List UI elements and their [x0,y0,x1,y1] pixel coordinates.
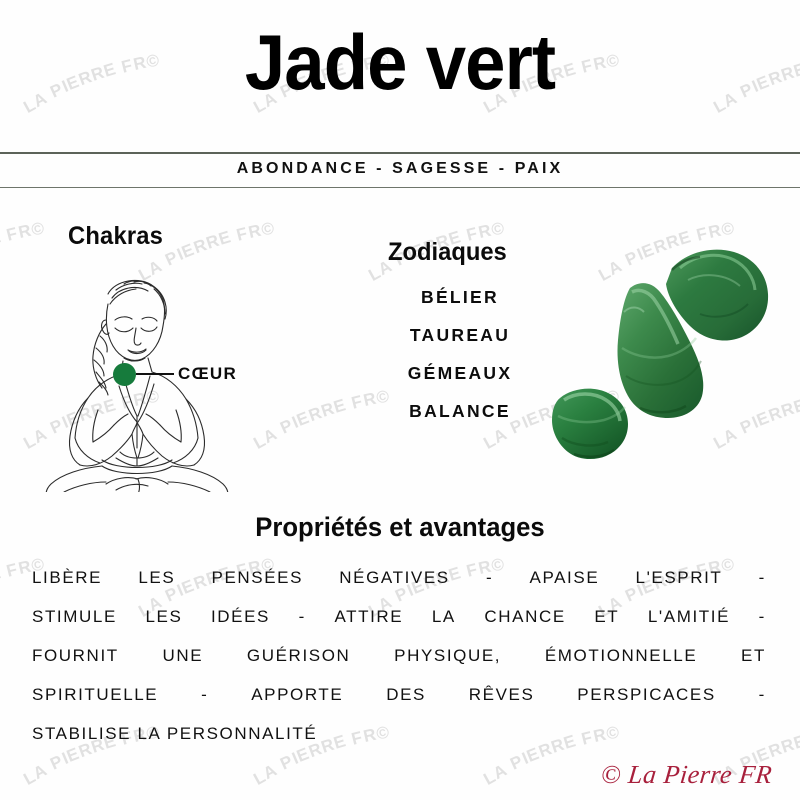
properties-word: ÉMOTIONNELLE [545,636,697,675]
properties-word: APPORTE [251,675,343,714]
properties-text: LIBÈRELESPENSÉESNÉGATIVES-APAISEL'ESPRIT… [32,558,766,753]
properties-word: GUÉRISON [247,636,350,675]
properties-word: LES [145,597,182,636]
properties-word: LIBÈRE [32,558,102,597]
properties-word: STIMULE [32,597,117,636]
infographic-page: LA PIERRE FR©LA PIERRE FR©LA PIERRE FR©L… [0,0,800,800]
properties-word: - [759,597,766,636]
properties-word: CHANCE [484,597,565,636]
properties-word: - [759,675,766,714]
properties-word: IDÉES [211,597,270,636]
divider-top [0,152,800,154]
properties-line: STIMULELESIDÉES-ATTIRELACHANCEETL'AMITIÉ… [32,597,766,636]
properties-word: - [759,558,766,597]
chakras-heading: Chakras [68,222,163,251]
properties-word: L'ESPRIT [636,558,723,597]
heart-chakra-dot [113,363,136,386]
properties-word: L'AMITIÉ [648,597,730,636]
properties-word: SPIRITUELLE [32,675,158,714]
properties-word: PENSÉES [212,558,304,597]
properties-word: NÉGATIVES [339,558,449,597]
zodiaques-heading: Zodiaques [388,238,507,267]
properties-word: UNE [162,636,203,675]
properties-word: LES [138,558,175,597]
subtitle-keywords: ABONDANCE - SAGESSE - PAIX [0,160,800,178]
jade-stones-icon [520,240,790,480]
divider-bottom [0,187,800,188]
properties-line: FOURNITUNEGUÉRISONPHYSIQUE,ÉMOTIONNELLEE… [32,636,766,675]
properties-word: RÊVES [469,675,535,714]
properties-word: PERSPICACES [577,675,716,714]
properties-line: SPIRITUELLE-APPORTEDESRÊVESPERSPICACES- [32,675,766,714]
properties-word: ATTIRE [334,597,403,636]
properties-line: STABILISE LA PERSONNALITÉ [32,714,766,753]
properties-word: APAISE [530,558,600,597]
properties-word: - [201,675,208,714]
properties-word: ET [594,597,619,636]
properties-heading: Propriétés et avantages [20,512,780,543]
properties-word: LA [432,597,456,636]
properties-word: ET [741,636,766,675]
brand-signature: © La Pierre FR [599,760,773,790]
properties-word: - [486,558,493,597]
chakra-leader-line [136,373,174,375]
properties-word: PHYSIQUE, [394,636,501,675]
properties-line: LIBÈRELESPENSÉESNÉGATIVES-APAISEL'ESPRIT… [32,558,766,597]
properties-word: - [299,597,306,636]
properties-word: DES [386,675,426,714]
properties-word: FOURNIT [32,636,119,675]
chakra-label-coeur: CŒUR [178,364,237,384]
page-title: Jade vert [28,22,772,104]
